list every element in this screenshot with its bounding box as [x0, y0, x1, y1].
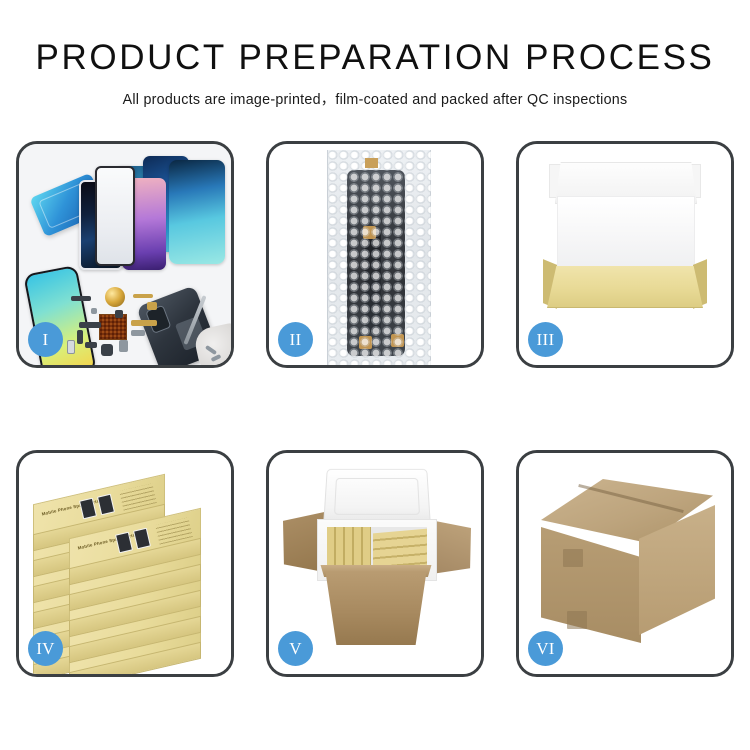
page-title: PRODUCT PREPARATION PROCESS — [0, 40, 750, 77]
process-step-panel-2[interactable]: II LCD screen assembly sealed in bubble … — [266, 141, 484, 368]
spare-part — [115, 310, 123, 318]
carton-body — [321, 571, 431, 645]
step-badge-6: VI — [528, 631, 563, 666]
process-step-panel-1[interactable]: I Assorted mobile phone screens, LCD dis… — [16, 141, 234, 368]
process-step-panel-4[interactable]: Mobile Phone Spare Parts — [16, 450, 234, 677]
step-badge-2: II — [278, 322, 313, 357]
spare-part — [79, 322, 101, 328]
page-subtitle: All products are image-printed，film-coat… — [0, 88, 750, 109]
process-step-grid: I Assorted mobile phone screens, LCD dis… — [16, 141, 734, 677]
spare-part — [147, 302, 157, 310]
spare-part — [85, 342, 97, 348]
step-badge-3: III — [528, 322, 563, 357]
spare-part — [67, 340, 75, 354]
carton-front-face — [541, 527, 641, 643]
spare-part — [71, 296, 91, 301]
spare-part — [119, 340, 128, 352]
speaker-component — [105, 287, 125, 307]
carton-tape-lower — [567, 611, 587, 629]
step-badge-1: I — [28, 322, 63, 357]
carton-tape-upper — [563, 549, 583, 567]
box-front-panel — [547, 266, 703, 308]
page-header: PRODUCT PREPARATION PROCESS All products… — [0, 0, 750, 109]
step-badge-4: IV — [28, 631, 63, 666]
tape-strip — [365, 158, 378, 168]
bubble-wrap-overlay — [327, 150, 431, 365]
flex-cable — [131, 320, 157, 326]
flex-cable — [133, 294, 153, 298]
step-badge-5: V — [278, 631, 313, 666]
process-step-panel-3[interactable]: III Open white and yellow inner carton w… — [516, 141, 734, 368]
spare-part — [131, 330, 145, 336]
process-step-panel-6[interactable]: VI Sealed plain brown corrugated shippin… — [516, 450, 734, 677]
spare-part — [101, 344, 113, 356]
circuit-board-chip — [99, 314, 127, 340]
foam-sheet — [557, 196, 695, 274]
spare-part — [77, 330, 83, 344]
phone-front-glass — [95, 166, 135, 266]
spare-part — [91, 308, 97, 314]
foam-lid — [323, 469, 431, 525]
phone-gradient — [169, 160, 225, 264]
process-step-panel-5[interactable]: V White foam box filled with yellow boxe… — [266, 450, 484, 677]
